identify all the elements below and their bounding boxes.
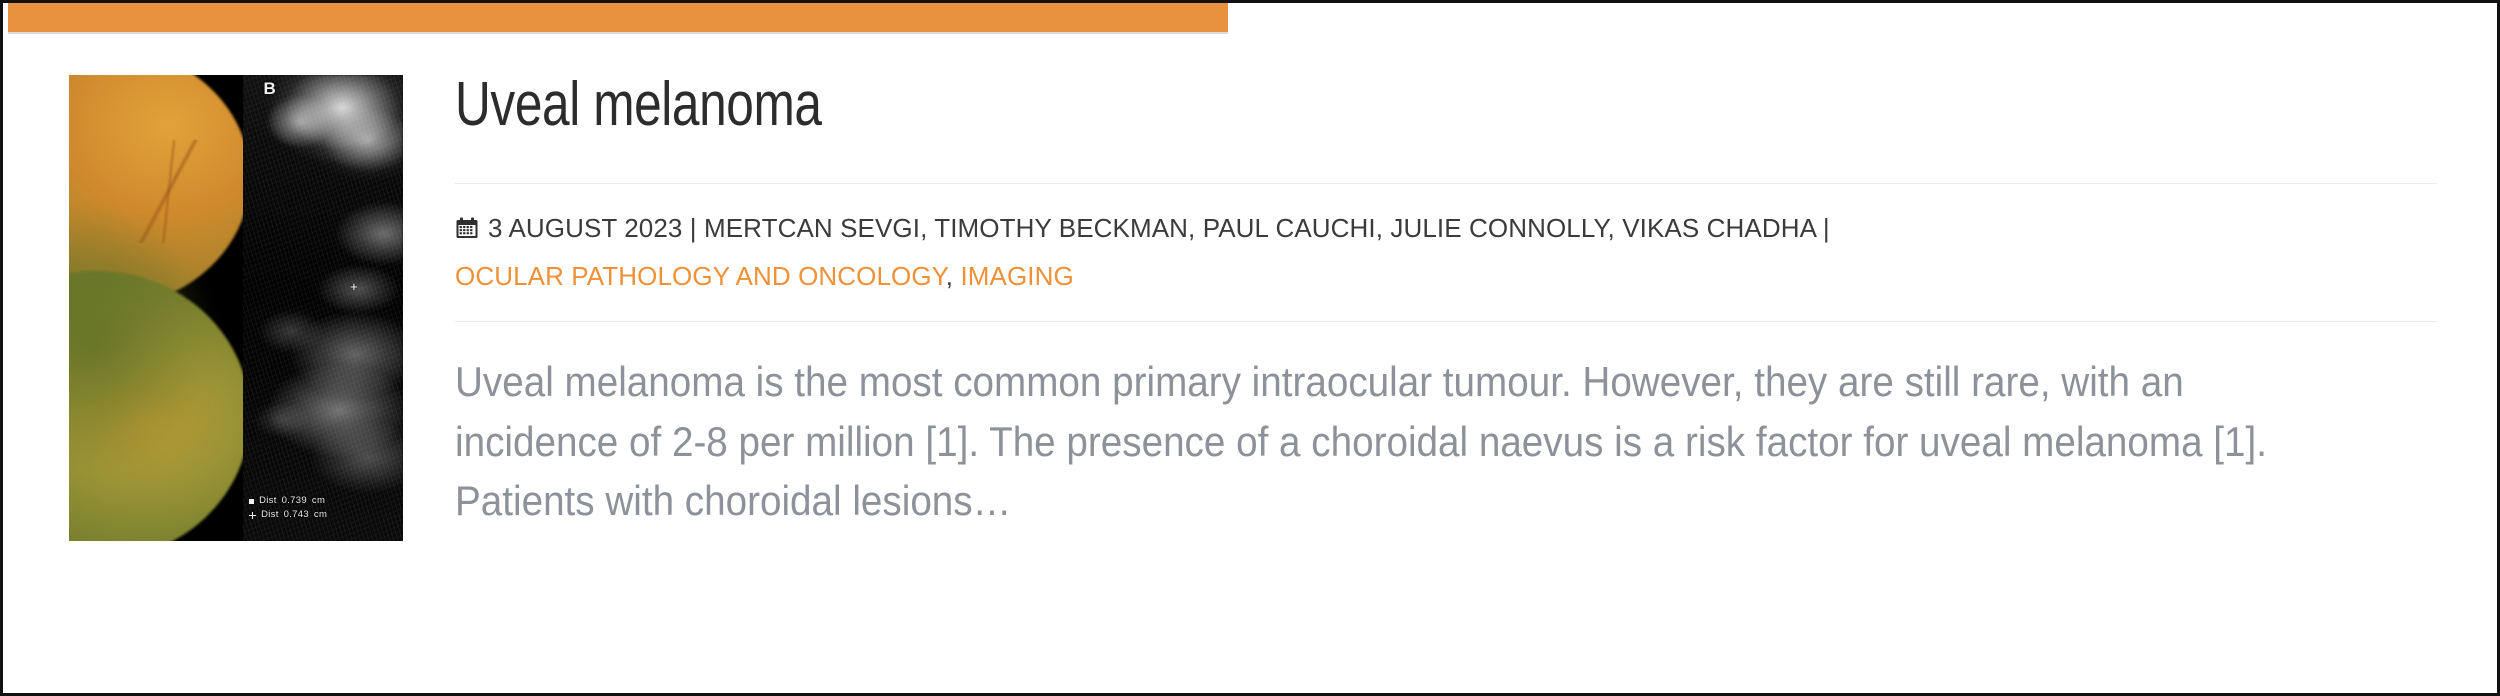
- post-excerpt: Uveal melanoma is the most common primar…: [455, 352, 2278, 531]
- category-separator: ,: [946, 261, 953, 291]
- post-meta-text: 3 AUGUST 2023 | MERTCAN SEVGI, TIMOTHY B…: [488, 213, 1830, 243]
- calendar-icon: [455, 213, 479, 250]
- post-content: Uveal melanoma: [455, 72, 2437, 531]
- retinal-vessels: [135, 140, 204, 243]
- page-frame: B + Dist 0.739 cm Dist 0.743: [0, 0, 2500, 696]
- fundus-photograph-panel: [69, 75, 243, 541]
- post-categories: OCULAR PATHOLOGY AND ONCOLOGY, IMAGING: [455, 258, 2437, 321]
- caliper-plus-icon: [249, 512, 256, 519]
- article-card: B + Dist 0.739 cm Dist 0.743: [3, 32, 2497, 693]
- bscan-ultrasound-panel: B + Dist 0.739 cm Dist 0.743: [243, 75, 403, 541]
- measurement-value: 0.739: [282, 494, 307, 508]
- page-title[interactable]: Uveal melanoma: [455, 72, 2041, 137]
- measurement-label: Dist: [261, 508, 279, 522]
- caliper-marker-plus: +: [350, 280, 358, 293]
- post-thumbnail-link[interactable]: B + Dist 0.739 cm Dist 0.743: [69, 75, 403, 541]
- measurement-value: 0.743: [284, 508, 309, 522]
- category-link-ocular-pathology-and-oncology[interactable]: OCULAR PATHOLOGY AND ONCOLOGY: [455, 261, 946, 291]
- post-meta: 3 AUGUST 2023 | MERTCAN SEVGI, TIMOTHY B…: [455, 184, 2437, 258]
- top-accent-bar: [8, 3, 1228, 34]
- measurement-row: Dist 0.739 cm: [249, 494, 327, 508]
- caliper-dot-icon: [249, 499, 254, 504]
- measurement-unit: cm: [312, 494, 325, 508]
- measurement-label: Dist: [259, 494, 277, 508]
- post-thumbnail-image: B + Dist 0.739 cm Dist 0.743: [69, 75, 403, 541]
- measurement-unit: cm: [314, 508, 327, 522]
- bscan-measurement-overlay: Dist 0.739 cm Dist 0.743 cm: [249, 494, 327, 523]
- bscan-grain-overlay: [243, 75, 403, 541]
- measurement-row: Dist 0.743 cm: [249, 508, 327, 522]
- category-link-imaging[interactable]: IMAGING: [960, 261, 1073, 291]
- divider-below-meta: [455, 321, 2437, 322]
- bscan-mode-label: B: [264, 80, 276, 97]
